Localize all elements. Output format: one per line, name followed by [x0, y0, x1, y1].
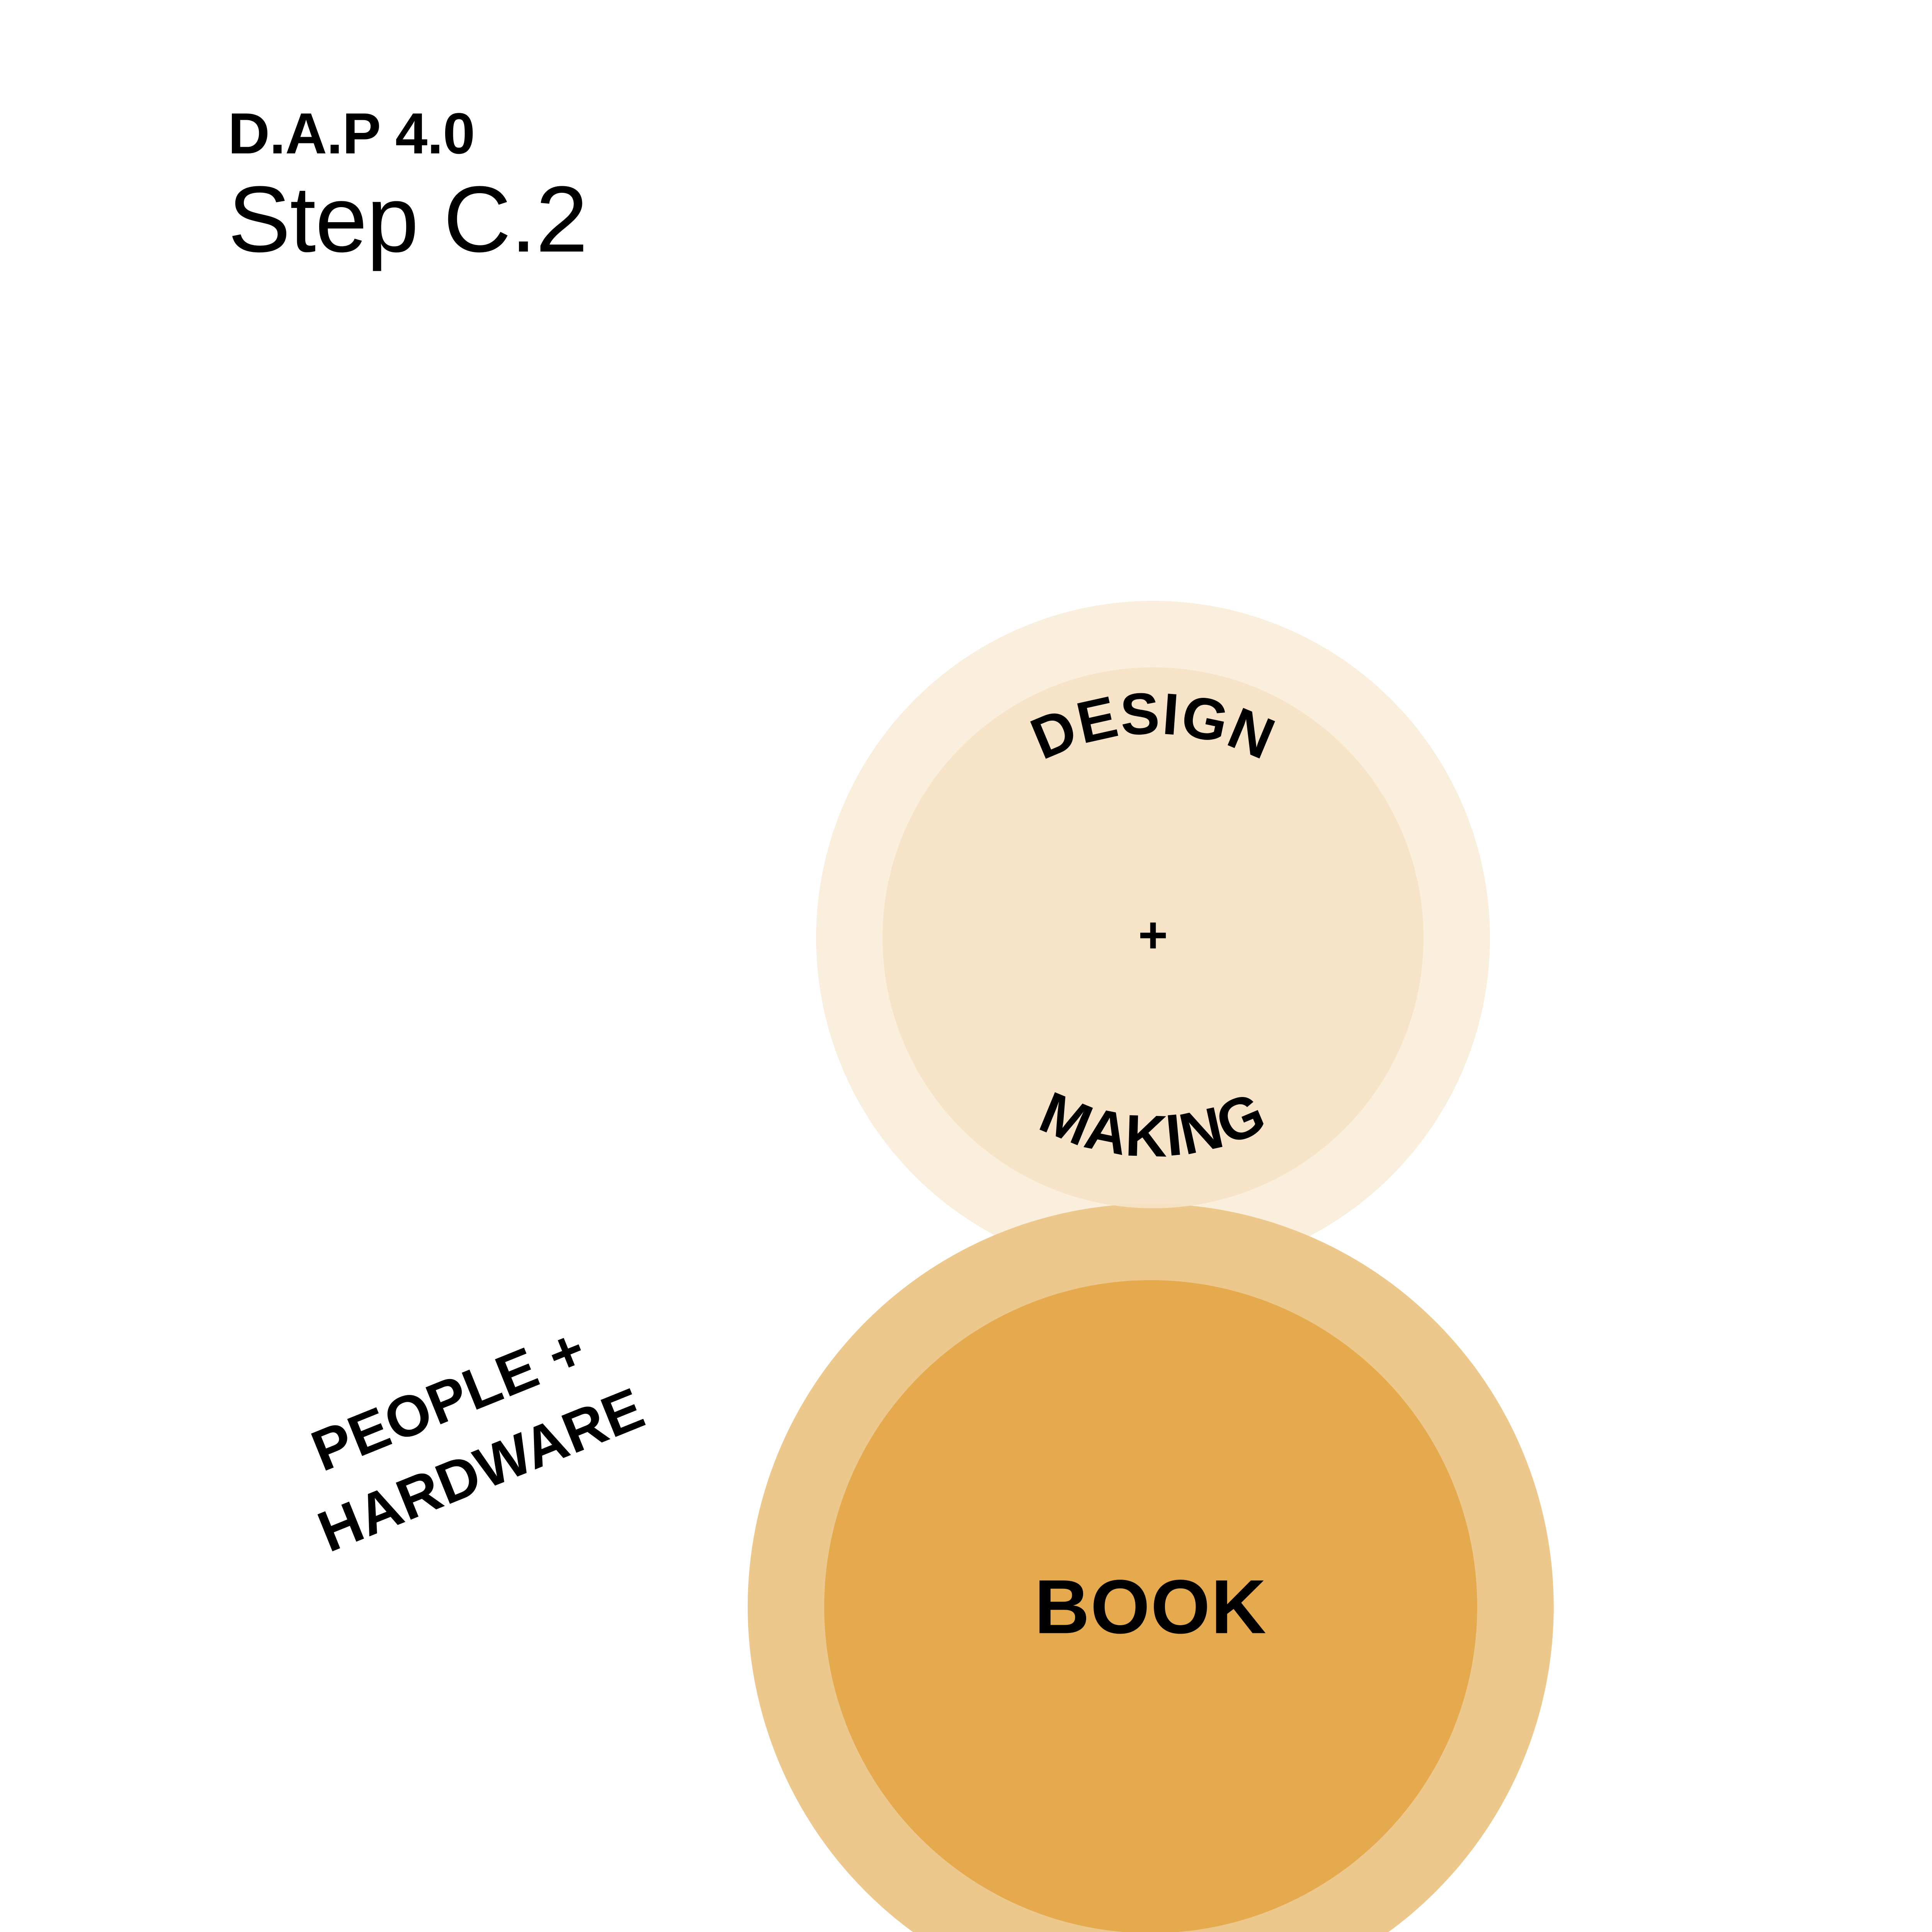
people-hardware-label: PEOPLE + HARDWARE	[280, 1303, 653, 1564]
design-making-plus-label: +	[1138, 906, 1168, 963]
book-label: BOOK	[1034, 1564, 1267, 1650]
venn-diagram: DESIGN + MAKING BOOK PEOPLE + HARDWARE	[0, 0, 1932, 1932]
